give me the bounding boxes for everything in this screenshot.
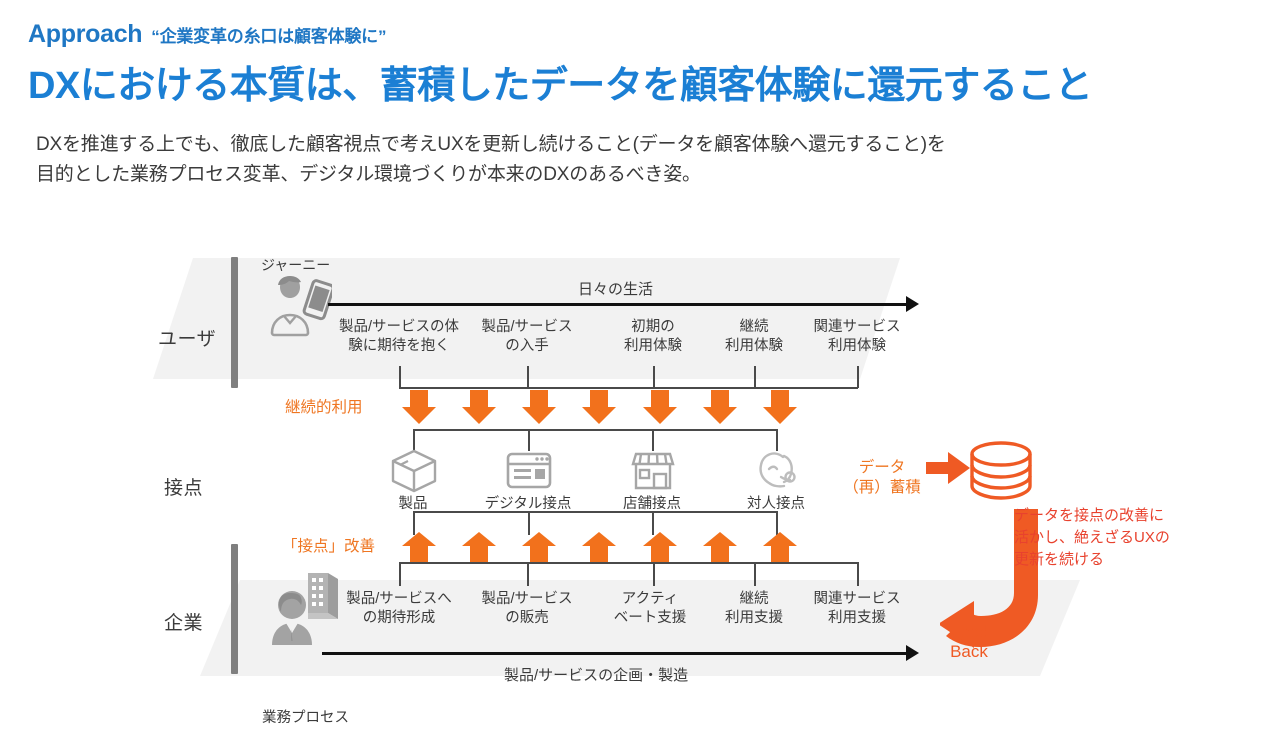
data-store-label: データ （再）蓄積 [840,458,924,498]
feedback-note-line3: 更新を続ける [1014,549,1170,571]
touchpoint-label-2: デジタル接点 [485,492,572,513]
feedback-label-line2: Back [938,642,1000,662]
business-process-label: 業務プロセス [262,706,349,727]
row-bar-enterprise [231,544,238,674]
row-label-touchpoint: 接点 [164,473,203,500]
user-stage-1-line2: 験に期待を抱く [339,337,459,356]
enterprise-stage-3: アクティ ベート支援 [614,590,687,628]
row-label-user: ユーザ [158,324,216,351]
user-axis-caption: 日々の生活 [578,280,653,300]
user-stage-5-line1: 関連サービス [814,318,901,337]
kicker-line: Approach “企業変革の糸口は顧客体験に” [28,20,1258,49]
slide-header: Approach “企業変革の糸口は顧客体験に” DXにおける本質は、蓄積したデ… [28,20,1258,190]
up-arrow-5 [643,532,677,562]
enterprise-stage-5-line2: 利用支援 [814,609,901,628]
enterprise-timeline-axis [322,652,908,655]
enterprise-connector-tick-5 [857,562,859,586]
user-stage-2-line2: の入手 [481,337,572,356]
enterprise-stage-3-line2: ベート支援 [614,609,687,628]
lede-line-1: DXを推進する上でも、徹底した顧客視点で考えUXを更新し続けること(データを顧客… [36,130,1258,160]
user-stage-2-line1: 製品/サービス [481,318,572,337]
touchpoint-label-3: 店舗接点 [623,492,681,513]
slide-canvas: Approach “企業変革の糸口は顧客体験に” DXにおける本質は、蓄積したデ… [0,0,1280,730]
user-connector-tick-1 [399,366,401,388]
feedback-note-line2: 活かし、絶えざるUXの [1014,527,1170,549]
right-arrow-icon [926,452,970,484]
feedback-label: Feed Back [938,622,1000,662]
touchpoint-improve-label: 「接点」改善 [282,537,375,557]
headset-person-icon [751,447,803,495]
user-connector-rail [399,387,858,389]
enterprise-stage-1: 製品/サービスへ の期待形成 [346,590,452,628]
continuous-use-label: 継続的利用 [285,398,363,418]
data-store-label-line1: データ [840,458,924,478]
user-stage-1-line1: 製品/サービスの体 [339,318,459,337]
up-arrow-6 [703,532,737,562]
storefront-icon [627,447,679,495]
down-arrow-2 [462,390,496,424]
data-store-label-line2: （再）蓄積 [840,478,924,498]
up-arrow-7 [763,532,797,562]
enterprise-stage-5-line1: 関連サービス [814,590,901,609]
approach-kicker: Approach [28,20,142,49]
down-arrow-4 [582,390,616,424]
row-bar-user [231,257,238,388]
business-person-with-building [262,569,344,652]
enterprise-stage-1-line2: の期待形成 [346,609,452,628]
feedback-label-line1: Feed [938,622,1000,642]
user-timeline-axis [328,303,908,306]
user-stage-4-line1: 継続 [725,318,783,337]
user-stage-3-line2: 利用体験 [624,337,682,356]
enterprise-connector-tick-4 [754,562,756,586]
journey-diagram: ユーザ 接点 企業 ジャーニー 日々の生活 [0,244,1280,730]
page-title: DXにおける本質は、蓄積したデータを顧客体験に還元すること [28,65,1258,108]
user-stage-4: 継続 利用体験 [725,318,783,356]
enterprise-connector-rail [399,562,858,564]
user-stage-5: 関連サービス 利用体験 [814,318,901,356]
up-arrow-1 [402,532,436,562]
enterprise-stage-4-line1: 継続 [725,590,783,609]
touchpoint-label-1: 製品 [399,492,428,513]
up-arrow-4 [582,532,616,562]
feedback-note: データを接点の改善に 活かし、絶えざるUXの 更新を続ける [1014,505,1170,570]
user-stage-1: 製品/サービスの体 験に期待を抱く [339,318,459,356]
lede-paragraph: DXを推進する上でも、徹底した顧客視点で考えUXを更新し続けること(データを顧客… [36,130,1258,190]
enterprise-stage-2-line1: 製品/サービス [481,590,572,609]
box-icon [388,447,440,495]
user-stage-2: 製品/サービス の入手 [481,318,572,356]
down-arrow-3 [522,390,556,424]
user-connector-tick-4 [754,366,756,388]
touchpoint-rail-top [413,429,777,431]
enterprise-connector-tick-1 [399,562,401,586]
down-arrow-1 [402,390,436,424]
up-arrow-2 [462,532,496,562]
user-stage-4-line2: 利用体験 [725,337,783,356]
user-stage-5-line2: 利用体験 [814,337,901,356]
enterprise-stage-2-line2: の販売 [481,609,572,628]
enterprise-connector-tick-3 [653,562,655,586]
enterprise-stage-3-line1: アクティ [614,590,687,609]
enterprise-stage-4-line2: 利用支援 [725,609,783,628]
down-arrow-5 [643,390,677,424]
enterprise-stage-1-line1: 製品/サービスへ [346,590,452,609]
user-connector-tick-3 [653,366,655,388]
touchpoint-label-4: 対人接点 [747,492,805,513]
lede-line-2: 目的とした業務プロセス変革、デジタル環境づくりが本来のDXのあるべき姿。 [36,160,1258,190]
row-label-enterprise: 企業 [164,608,203,635]
enterprise-stage-5: 関連サービス 利用支援 [814,590,901,628]
enterprise-axis-caption: 製品/サービスの企画・製造 [504,666,688,686]
user-avatar-with-smartphone [262,276,332,343]
enterprise-timeline-arrowhead [906,645,919,661]
user-stage-3-line1: 初期の [624,318,682,337]
up-arrow-3 [522,532,556,562]
enterprise-connector-tick-2 [527,562,529,586]
down-arrow-7 [763,390,797,424]
user-connector-tick-5 [857,366,859,388]
enterprise-stage-4: 継続 利用支援 [725,590,783,628]
down-arrow-6 [703,390,737,424]
journey-label: ジャーニー [261,256,330,274]
browser-window-icon [503,447,555,495]
user-timeline-arrowhead [906,296,919,312]
touchpoint-rail-bottom [413,511,777,513]
enterprise-stage-2: 製品/サービス の販売 [481,590,572,628]
user-stage-3: 初期の 利用体験 [624,318,682,356]
user-connector-tick-2 [527,366,529,388]
database-cylinder-icon [926,438,1038,509]
approach-kicker-subtitle: “企業変革の糸口は顧客体験に” [151,22,386,47]
feedback-note-line1: データを接点の改善に [1014,505,1170,527]
